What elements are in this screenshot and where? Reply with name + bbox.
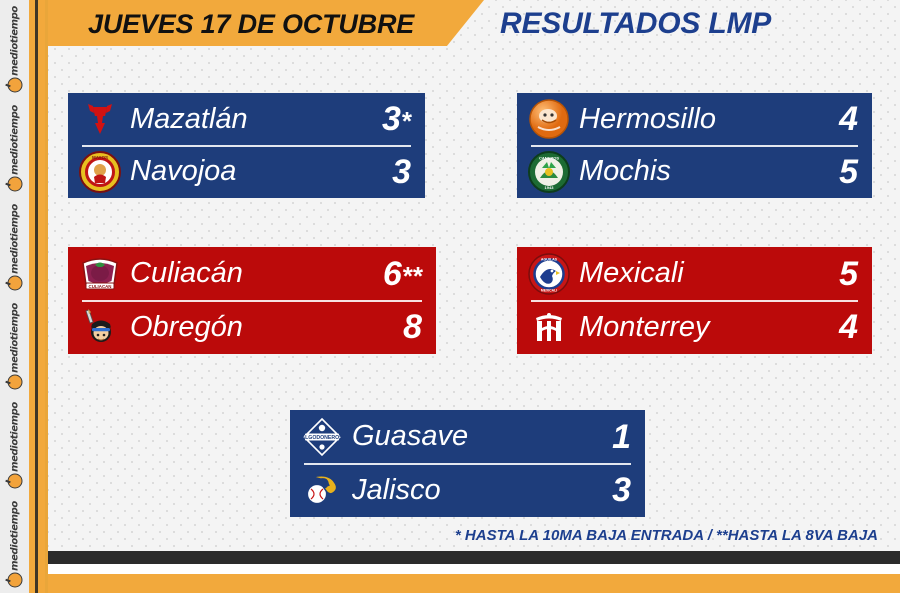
team-name: Guasave <box>344 422 565 451</box>
score-row[interactable]: Jalisco3 <box>290 464 645 518</box>
clock-logo-icon <box>8 78 23 93</box>
charros-jalisco-logo-icon <box>300 468 344 512</box>
score-card[interactable]: Hermosillo4CANEROS1943Mochis5 <box>517 93 872 198</box>
score-row[interactable]: Mazatlán3* <box>68 93 425 146</box>
score-row[interactable]: CANEROS1943Mochis5 <box>517 146 872 199</box>
svg-text:MEXICALI: MEXICALI <box>541 288 557 292</box>
svg-text:ALGODONEROS: ALGODONEROS <box>301 435 343 441</box>
score-value: 1 <box>612 418 631 456</box>
team-name: Mazatlán <box>122 105 345 134</box>
watermark-logo: mediotiempo <box>1 104 30 194</box>
watermark-label: mediotiempo <box>10 105 21 175</box>
watermark-label: mediotiempo <box>10 303 21 373</box>
mayos-navojoa-logo-icon: MAYOS <box>78 150 122 194</box>
clock-logo-icon <box>8 276 23 291</box>
score-card[interactable]: CULIACANCuliacán6**Obregón8 <box>68 247 436 354</box>
team-score: 3 <box>565 473 631 507</box>
svg-text:CULIACAN: CULIACAN <box>89 284 112 289</box>
team-name: Navojoa <box>122 157 345 186</box>
watermark-label: mediotiempo <box>10 402 21 472</box>
clock-logo-icon <box>8 177 23 192</box>
yaquis-obregon-logo-icon <box>78 305 122 349</box>
score-marker: ** <box>402 261 422 291</box>
watermark-logo: mediotiempo <box>1 499 30 589</box>
team-name: Mochis <box>571 157 792 186</box>
score-value: 4 <box>839 100 858 138</box>
team-name: Obregón <box>122 313 356 342</box>
tomateros-culiacan-logo-icon: CULIACAN <box>78 252 122 296</box>
bottom-dark-bar <box>48 551 900 564</box>
watermark-label: mediotiempo <box>10 204 21 274</box>
svg-text:CANEROS: CANEROS <box>539 155 559 160</box>
team-score: 6** <box>356 257 422 291</box>
header-date: JUEVES 17 DE OCTUBRE <box>88 7 448 41</box>
score-row[interactable]: Monterrey4 <box>517 301 872 355</box>
gold-band-thin <box>45 0 48 593</box>
score-card[interactable]: Mazatlán3*MAYOSNavojoa3 <box>68 93 425 198</box>
score-value: 5 <box>839 153 858 191</box>
score-value: 4 <box>839 308 858 346</box>
score-value: 3 <box>612 471 631 509</box>
watermark-logo: mediotiempo <box>1 5 30 95</box>
team-name: Culiacán <box>122 259 356 288</box>
bottom-orange-bar <box>48 574 900 593</box>
team-score: 1 <box>565 420 631 454</box>
caneros-los-mochis-logo-icon: CANEROS1943 <box>527 150 571 194</box>
watermark-logo: mediotiempo <box>1 203 30 293</box>
score-card[interactable]: ALGODONEROSGuasave1Jalisco3 <box>290 410 645 517</box>
team-score: 8 <box>356 310 422 344</box>
svg-text:MAYOS: MAYOS <box>92 155 108 160</box>
score-card[interactable]: AGUILASMEXICALIMexicali5Monterrey4 <box>517 247 872 354</box>
team-score: 3* <box>345 102 411 136</box>
team-score: 5 <box>792 257 858 291</box>
algodoneros-guasave-logo-icon: ALGODONEROS <box>300 415 344 459</box>
clock-logo-icon <box>8 572 23 587</box>
watermark-rail: mediotiempomediotiempomediotiempomedioti… <box>0 0 29 593</box>
watermark-label: mediotiempo <box>10 501 21 571</box>
sultanes-monterrey-logo-icon <box>527 305 571 349</box>
page-title: RESULTADOS LMP <box>500 6 880 42</box>
aguilas-mexicali-logo-icon: AGUILASMEXICALI <box>527 252 571 296</box>
watermark-logo: mediotiempo <box>1 400 30 490</box>
score-marker: * <box>401 106 411 136</box>
score-row[interactable]: Obregón8 <box>68 301 436 355</box>
clock-logo-icon <box>8 375 23 390</box>
naranjeros-hermosillo-logo-icon <box>527 97 571 141</box>
score-row[interactable]: CULIACANCuliacán6** <box>68 247 436 301</box>
score-row[interactable]: MAYOSNavojoa3 <box>68 146 425 199</box>
clock-logo-icon <box>8 474 23 489</box>
scoreboard-graphic: mediotiempomediotiempomediotiempomedioti… <box>0 0 900 593</box>
team-score: 3 <box>345 155 411 189</box>
venados-mazatlan-logo-icon <box>78 97 122 141</box>
score-value: 3 <box>382 100 401 138</box>
team-name: Hermosillo <box>571 105 792 134</box>
svg-text:1943: 1943 <box>545 185 555 190</box>
watermark-logo: mediotiempo <box>1 301 30 391</box>
gold-band-divider <box>35 0 38 593</box>
score-value: 8 <box>403 308 422 346</box>
score-value: 6 <box>383 255 402 293</box>
team-name: Monterrey <box>571 313 792 342</box>
watermark-label: mediotiempo <box>10 7 21 77</box>
score-value: 5 <box>839 255 858 293</box>
score-value: 3 <box>392 153 411 191</box>
bottom-white-bar <box>48 564 900 574</box>
team-name: Jalisco <box>344 476 565 505</box>
svg-text:AGUILAS: AGUILAS <box>541 257 558 261</box>
score-row[interactable]: AGUILASMEXICALIMexicali5 <box>517 247 872 301</box>
footnote: * HASTA LA 10MA BAJA ENTRADA / **HASTA L… <box>330 524 878 546</box>
score-row[interactable]: Hermosillo4 <box>517 93 872 146</box>
team-score: 5 <box>792 155 858 189</box>
team-score: 4 <box>792 102 858 136</box>
team-name: Mexicali <box>571 259 792 288</box>
team-score: 4 <box>792 310 858 344</box>
score-row[interactable]: ALGODONEROSGuasave1 <box>290 410 645 464</box>
